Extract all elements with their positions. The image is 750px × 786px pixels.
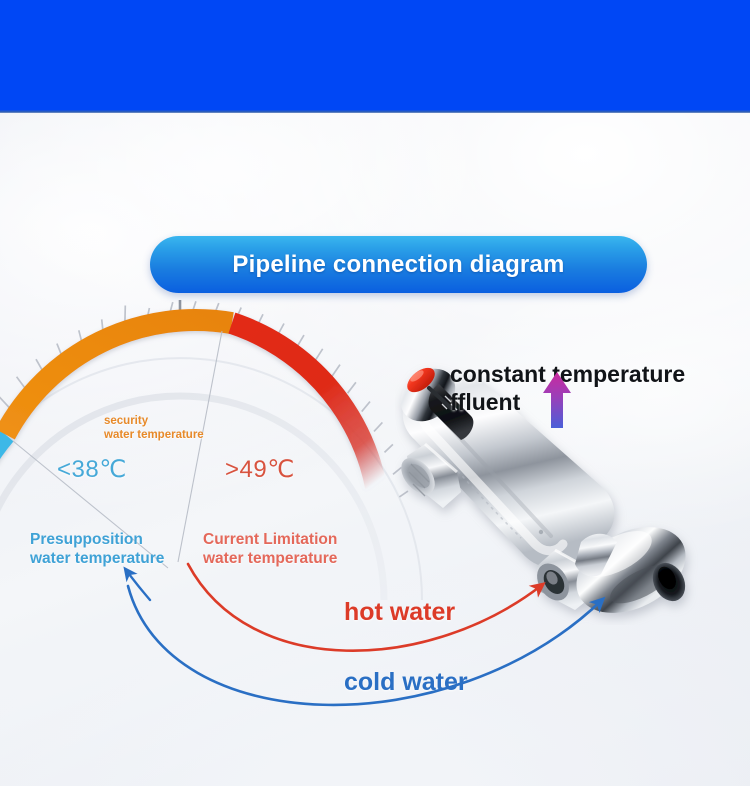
- gauge-low-value: <38℃: [57, 455, 127, 484]
- constant-temperature-effluent-label: constant temperature ffluent: [450, 360, 750, 416]
- gauge-high-value: >49℃: [225, 455, 295, 484]
- presupposition-line1: Presupposition: [30, 530, 164, 549]
- gauge-security-line2: water temperature: [104, 428, 204, 442]
- hot-water-label: hot water: [344, 598, 455, 627]
- page-title-pill[interactable]: Pipeline connection diagram: [150, 236, 647, 293]
- constant-line1: constant temperature: [450, 360, 750, 388]
- cold-water-label: cold water: [344, 668, 468, 697]
- gauge-security-line1: security: [104, 414, 204, 428]
- constant-line2: ffluent: [450, 388, 750, 416]
- current-limitation-line2: water temperature: [203, 549, 337, 568]
- gauge-presupposition-label: Presupposition water temperature: [30, 530, 164, 568]
- gauge-security-label: security water temperature: [104, 414, 204, 442]
- diagram-page: security water temperature <38℃ >49℃ Pre…: [0, 0, 750, 786]
- presupposition-line2: water temperature: [30, 549, 164, 568]
- top-banner: [0, 0, 750, 113]
- current-limitation-line1: Current Limitation: [203, 530, 337, 549]
- effluent-up-arrow-icon: [540, 372, 574, 428]
- body-screw-dot: [539, 530, 543, 534]
- page-title: Pipeline connection diagram: [232, 251, 564, 279]
- gauge-current-limitation-label: Current Limitation water temperature: [203, 530, 337, 568]
